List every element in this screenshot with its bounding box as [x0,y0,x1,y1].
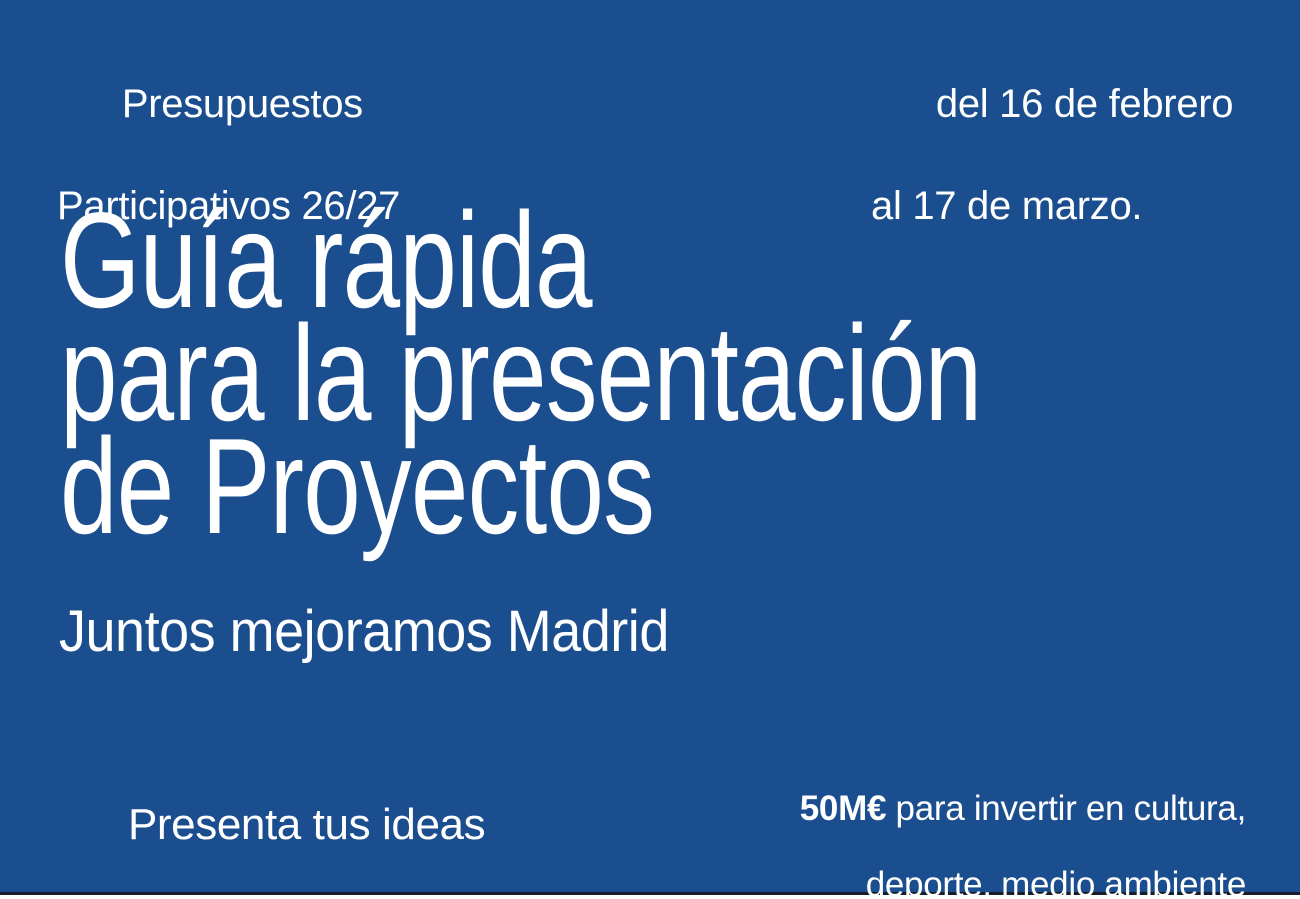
page-title: Guía rápida para la presentación de Proy… [60,204,1260,543]
poster: Presupuestos Participativos 26/27 del 16… [0,0,1300,899]
poster-content: Presupuestos Participativos 26/27 del 16… [0,0,1300,892]
budget-info-line2: deporte, medio ambiente [606,866,1246,899]
budget-info-line1: 50M€ para invertir en cultura, [800,789,1246,828]
page-title-line3: de Proyectos [60,430,972,543]
tagline: Juntos mejoramos Madrid [59,601,669,663]
date-range-line1: del 16 de febrero [936,82,1233,126]
call-to-action-line1: Presenta tus ideas [128,800,485,849]
budget-amount: 50M€ [800,789,886,828]
budget-info: 50M€ para invertir en cultura, deporte, … [606,752,1246,899]
call-to-action: Presenta tus ideas en Decide__Madrid [57,750,485,899]
budget-info-line1-rest: para invertir en cultura, [886,789,1246,828]
program-name-line1: Presupuestos [122,82,363,126]
